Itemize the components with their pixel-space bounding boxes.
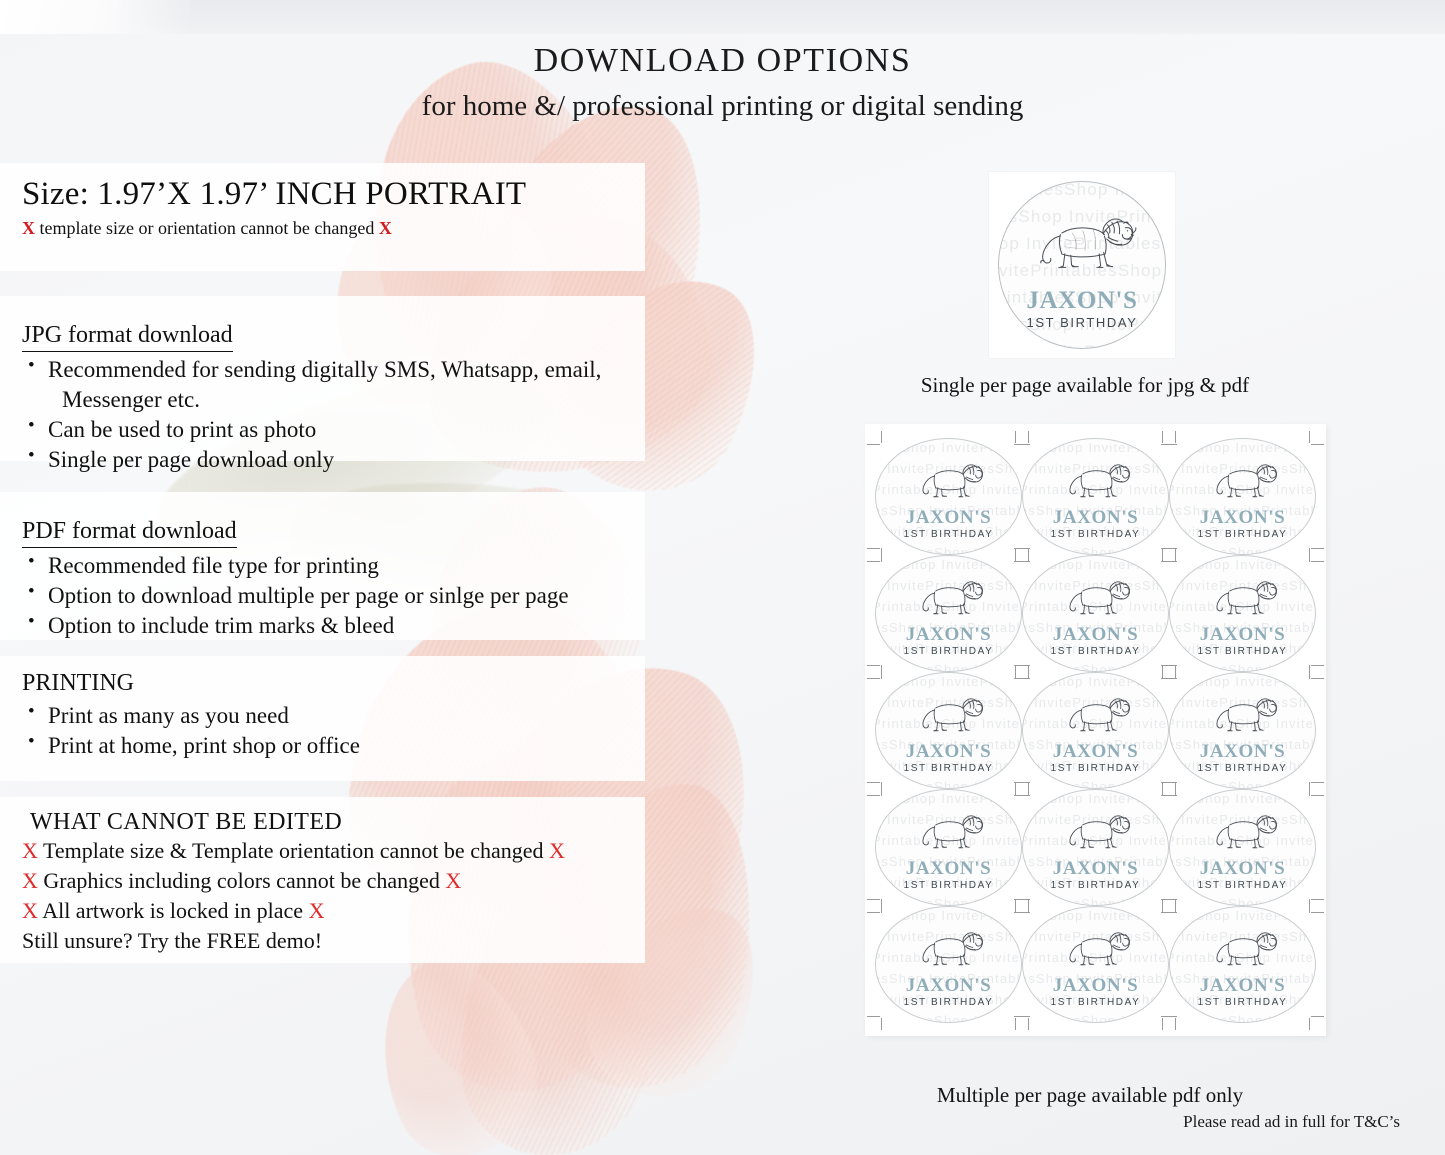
sticker-subtitle: 1ST BIRTHDAY xyxy=(1051,647,1141,657)
lion-icon xyxy=(1206,453,1280,508)
sticker-subtitle: 1ST BIRTHDAY xyxy=(1051,530,1141,540)
sticker-grid: InvitePrintablesShop InvitePrintablesSho… xyxy=(875,438,1316,1023)
cannot-edit-text: Graphics including colors cannot be chan… xyxy=(43,868,439,893)
sticker-cell[interactable]: InvitePrintablesShop InvitePrintablesSho… xyxy=(1169,906,1316,1023)
page-title: DOWNLOAD OPTIONS xyxy=(0,40,1445,83)
jpg-bullet-list: Recommended for sending digitally SMS, W… xyxy=(22,355,645,475)
lion-icon xyxy=(1059,804,1133,859)
sticker-subtitle: 1ST BIRTHDAY xyxy=(1051,881,1141,891)
sticker-name: JAXON'S xyxy=(1053,742,1139,761)
jpg-heading-wrap: JPG format download xyxy=(22,296,645,352)
sticker-cell[interactable]: InvitePrintablesShop InvitePrintablesSho… xyxy=(1022,789,1169,906)
sticker-label: InvitePrintablesShop InvitePrintablesSho… xyxy=(1022,906,1169,1023)
list-item: Single per page download only xyxy=(22,445,645,475)
single-preview-caption: Single per page available for jpg & pdf xyxy=(875,373,1295,398)
sticker-cell[interactable]: InvitePrintablesShop InvitePrintablesSho… xyxy=(1022,555,1169,672)
sticker-label: InvitePrintablesShop InvitePrintablesSho… xyxy=(875,672,1022,789)
list-item: Option to download multiple per page or … xyxy=(22,581,645,611)
sticker-cell[interactable]: InvitePrintablesShop InvitePrintablesSho… xyxy=(875,672,1022,789)
x-marker-left: X xyxy=(22,868,38,893)
sticker-subtitle: 1ST BIRTHDAY xyxy=(904,881,994,891)
sticker-name: JAXON'S xyxy=(906,508,992,527)
cannot-edit-text: Template size & Template orientation can… xyxy=(43,838,544,863)
sticker-name: JAXON'S xyxy=(906,625,992,644)
sticker-subtitle: 1ST BIRTHDAY xyxy=(904,764,994,774)
sticker-name: JAXON'S xyxy=(1200,508,1286,527)
lion-icon xyxy=(912,804,986,859)
sticker-cell[interactable]: InvitePrintablesShop InvitePrintablesSho… xyxy=(1022,438,1169,555)
x-marker-right: X xyxy=(445,868,461,893)
sticker-name: JAXON'S xyxy=(1053,508,1139,527)
printing-heading: PRINTING xyxy=(22,656,645,698)
sticker-name: JAXON'S xyxy=(1053,859,1139,878)
jpg-heading: JPG format download xyxy=(22,308,233,352)
sticker-subtitle: 1ST BIRTHDAY xyxy=(1027,316,1138,329)
sticker-label: InvitePrintablesShop InvitePrintablesSho… xyxy=(1169,789,1316,906)
cannot-be-edited-panel: WHAT CANNOT BE EDITED X Template size & … xyxy=(0,797,645,963)
sticker-name: JAXON'S xyxy=(1200,859,1286,878)
x-marker-right: X xyxy=(379,218,392,238)
cannot-edit-line: X Template size & Template orientation c… xyxy=(22,836,645,866)
list-item: Print at home, print shop or office xyxy=(22,731,645,761)
sticker-cell[interactable]: InvitePrintablesShop InvitePrintablesSho… xyxy=(1169,438,1316,555)
x-marker-right: X xyxy=(309,898,325,923)
lion-icon xyxy=(1059,921,1133,976)
sticker-label: InvitePrintablesShop InvitePrintablesSho… xyxy=(1022,555,1169,672)
lion-icon xyxy=(1206,804,1280,859)
lion-icon xyxy=(1206,921,1280,976)
multiple-per-page-sheet[interactable]: InvitePrintablesShop InvitePrintablesSho… xyxy=(865,424,1326,1036)
list-item: Messenger etc. xyxy=(22,385,645,415)
sticker-name: JAXON'S xyxy=(906,742,992,761)
sticker-label: InvitePrintablesShop InvitePrintablesSho… xyxy=(1022,672,1169,789)
terms-note: Please read ad in full for T&C’s xyxy=(1002,1112,1422,1132)
free-demo-line: Still unsure? Try the FREE demo! xyxy=(22,926,645,956)
lion-icon xyxy=(1026,201,1138,282)
sticker-subtitle: 1ST BIRTHDAY xyxy=(904,998,994,1008)
pdf-bullet-list: Recommended file type for printing Optio… xyxy=(22,551,645,641)
lion-icon xyxy=(1059,570,1133,625)
size-panel: Size: 1.97’X 1.97’ INCH PORTRAIT X templ… xyxy=(0,163,645,271)
sticker-label: InvitePrintablesShop InvitePrintablesSho… xyxy=(1169,906,1316,1023)
list-item: Recommended file type for printing xyxy=(22,551,645,581)
sticker-subtitle: 1ST BIRTHDAY xyxy=(1051,998,1141,1008)
sticker-cell[interactable]: InvitePrintablesShop InvitePrintablesSho… xyxy=(1169,555,1316,672)
x-marker-left: X xyxy=(22,898,38,923)
sticker-cell[interactable]: InvitePrintablesShop InvitePrintablesSho… xyxy=(1022,906,1169,1023)
lion-icon xyxy=(1059,687,1133,742)
sticker-name: JAXON'S xyxy=(1053,976,1139,995)
lion-icon xyxy=(912,570,986,625)
printing-bullet-list: Print as many as you need Print at home,… xyxy=(22,701,645,761)
download-options-page: DOWNLOAD OPTIONS for home &/ professiona… xyxy=(0,0,1445,1155)
pdf-heading-wrap: PDF format download xyxy=(22,492,645,548)
list-item: Print as many as you need xyxy=(22,701,645,731)
sticker-name: JAXON'S xyxy=(1200,976,1286,995)
cannot-edit-line: X Graphics including colors cannot be ch… xyxy=(22,866,645,896)
sticker-subtitle: 1ST BIRTHDAY xyxy=(1051,764,1141,774)
single-per-page-preview[interactable]: InvitePrintablesShop InvitePrintablesSho… xyxy=(989,172,1175,358)
sticker-subtitle: 1ST BIRTHDAY xyxy=(1198,881,1288,891)
cannot-edit-line: X All artwork is locked in place X xyxy=(22,896,645,926)
sticker-label: InvitePrintablesShop InvitePrintablesSho… xyxy=(1169,555,1316,672)
sticker-subtitle: 1ST BIRTHDAY xyxy=(1198,530,1288,540)
size-title: Size: 1.97’X 1.97’ INCH PORTRAIT xyxy=(22,163,645,215)
sticker-name: JAXON'S xyxy=(906,859,992,878)
sticker-subtitle: 1ST BIRTHDAY xyxy=(1198,647,1288,657)
sticker-name: JAXON'S xyxy=(906,976,992,995)
printing-panel: PRINTING Print as many as you need Print… xyxy=(0,656,645,781)
cannot-edit-heading: WHAT CANNOT BE EDITED xyxy=(22,797,645,836)
cannot-edit-text: All artwork is locked in place xyxy=(42,898,303,923)
sticker-cell[interactable]: InvitePrintablesShop InvitePrintablesSho… xyxy=(1169,789,1316,906)
sticker-name: JAXON'S xyxy=(1200,742,1286,761)
x-marker-right: X xyxy=(549,838,565,863)
top-bar xyxy=(0,0,1445,34)
lion-icon xyxy=(912,921,986,976)
sticker-label: InvitePrintablesShop InvitePrintablesSho… xyxy=(1169,672,1316,789)
x-marker-left: X xyxy=(22,838,38,863)
jpg-format-panel: JPG format download Recommended for send… xyxy=(0,296,645,461)
lion-icon xyxy=(912,453,986,508)
list-item: Option to include trim marks & bleed xyxy=(22,611,645,641)
sticker-label: InvitePrintablesShop InvitePrintablesSho… xyxy=(1169,438,1316,555)
sticker-name: JAXON'S xyxy=(1200,625,1286,644)
sticker-label: InvitePrintablesShop InvitePrintablesSho… xyxy=(875,789,1022,906)
sticker-cell[interactable]: InvitePrintablesShop InvitePrintablesSho… xyxy=(875,906,1022,1023)
sticker-name: JAXON'S xyxy=(1053,625,1139,644)
size-note: X template size or orientation cannot be… xyxy=(22,217,645,240)
sticker-subtitle: 1ST BIRTHDAY xyxy=(1198,998,1288,1008)
list-item: Can be used to print as photo xyxy=(22,415,645,445)
sticker-cell[interactable]: InvitePrintablesShop InvitePrintablesSho… xyxy=(875,438,1022,555)
multi-preview-caption: Multiple per page available pdf only xyxy=(880,1083,1300,1108)
sticker-label: InvitePrintablesShop InvitePrintablesSho… xyxy=(875,906,1022,1023)
sticker-label: InvitePrintablesShop InvitePrintablesSho… xyxy=(1022,789,1169,906)
sticker-subtitle: 1ST BIRTHDAY xyxy=(904,647,994,657)
sticker-label: InvitePrintablesShop InvitePrintablesSho… xyxy=(998,181,1166,349)
lion-icon xyxy=(1059,453,1133,508)
sticker-cell[interactable]: InvitePrintablesShop InvitePrintablesSho… xyxy=(875,789,1022,906)
page-header: DOWNLOAD OPTIONS for home &/ professiona… xyxy=(0,40,1445,126)
pdf-format-panel: PDF format download Recommended file typ… xyxy=(0,492,645,640)
size-note-text: template size or orientation cannot be c… xyxy=(40,218,375,238)
sticker-cell[interactable]: InvitePrintablesShop InvitePrintablesSho… xyxy=(1022,672,1169,789)
sticker-label: InvitePrintablesShop InvitePrintablesSho… xyxy=(875,438,1022,555)
sticker-label: InvitePrintablesShop InvitePrintablesSho… xyxy=(875,555,1022,672)
x-marker-left: X xyxy=(22,218,35,238)
sticker-name: JAXON'S xyxy=(1026,288,1137,313)
pdf-heading: PDF format download xyxy=(22,504,237,548)
sticker-label: InvitePrintablesShop InvitePrintablesSho… xyxy=(1022,438,1169,555)
sticker-subtitle: 1ST BIRTHDAY xyxy=(904,530,994,540)
page-subtitle: for home &/ professional printing or dig… xyxy=(0,87,1445,126)
lion-icon xyxy=(1206,570,1280,625)
lion-icon xyxy=(1206,687,1280,742)
lion-icon xyxy=(912,687,986,742)
sticker-subtitle: 1ST BIRTHDAY xyxy=(1198,764,1288,774)
sticker-cell[interactable]: InvitePrintablesShop InvitePrintablesSho… xyxy=(1169,672,1316,789)
list-item: Recommended for sending digitally SMS, W… xyxy=(22,355,645,385)
sticker-cell[interactable]: InvitePrintablesShop InvitePrintablesSho… xyxy=(875,555,1022,672)
